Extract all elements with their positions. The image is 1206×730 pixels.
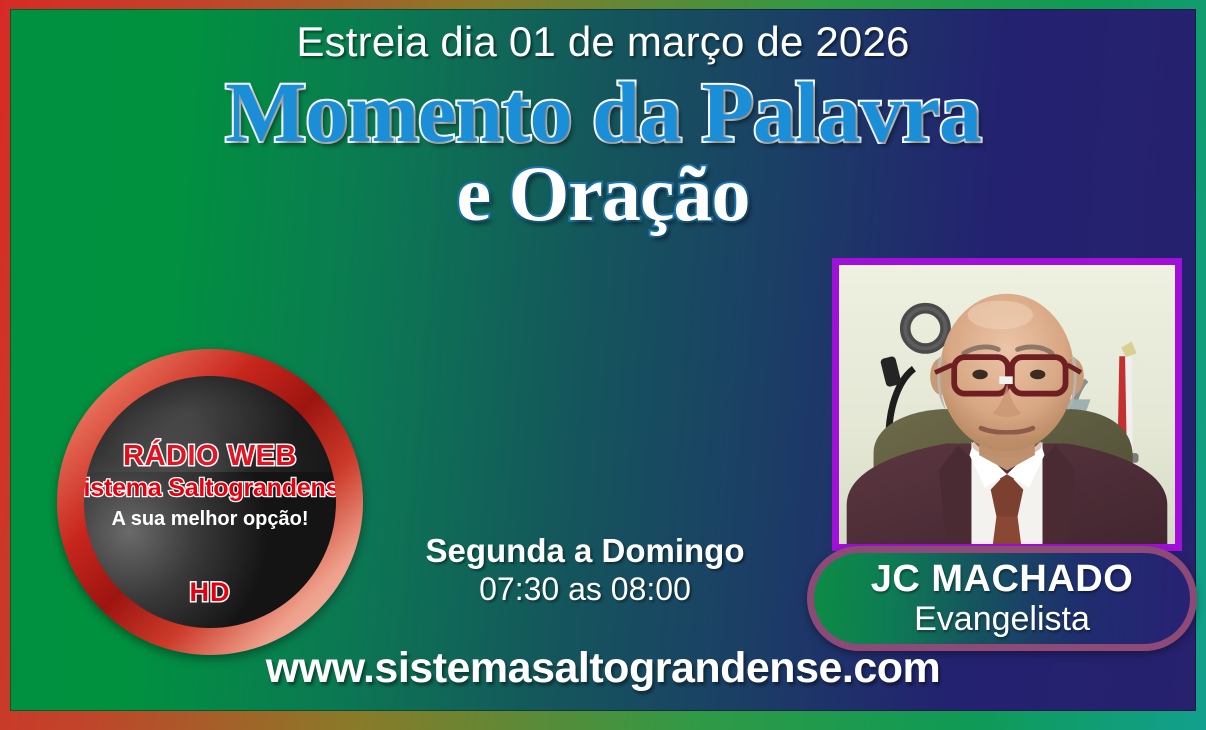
host-photo-frame <box>832 258 1182 551</box>
program-title-line-2: e Oração <box>10 156 1196 232</box>
poster-inner-panel: Estreia dia 01 de março de 2026 Momento … <box>10 9 1196 711</box>
schedule-days-text: Segunda a Domingo <box>375 532 795 571</box>
host-name-badge: JC MACHADO Evangelista <box>807 546 1197 651</box>
premiere-date-text: Estreia dia 01 de março de 2026 <box>10 18 1196 66</box>
host-role-text: Evangelista <box>914 600 1090 638</box>
logo-tagline-text: A sua melhor opção! <box>111 508 308 531</box>
logo-inner-disc: RÁDIO WEB Sistema Saltograndense A sua m… <box>84 376 336 628</box>
host-portrait-image <box>839 265 1175 546</box>
program-title: Momento da Palavra e Oração <box>10 71 1196 232</box>
host-name-text: JC MACHADO <box>871 559 1134 599</box>
broadcast-schedule: Segunda a Domingo 07:30 as 08:00 <box>375 532 795 609</box>
website-url-text: www.sistemasaltograndense.com <box>10 644 1196 693</box>
logo-station-name-text: Sistema Saltograndense <box>84 474 336 503</box>
program-title-line-1: Momento da Palavra <box>10 71 1196 154</box>
logo-hd-badge: HD <box>84 577 336 608</box>
schedule-time-text: 07:30 as 08:00 <box>375 571 795 609</box>
radio-station-logo: RÁDIO WEB Sistema Saltograndense A sua m… <box>57 349 363 655</box>
promo-poster: Estreia dia 01 de março de 2026 Momento … <box>0 0 1206 730</box>
logo-radio-web-text: RÁDIO WEB <box>123 440 297 473</box>
